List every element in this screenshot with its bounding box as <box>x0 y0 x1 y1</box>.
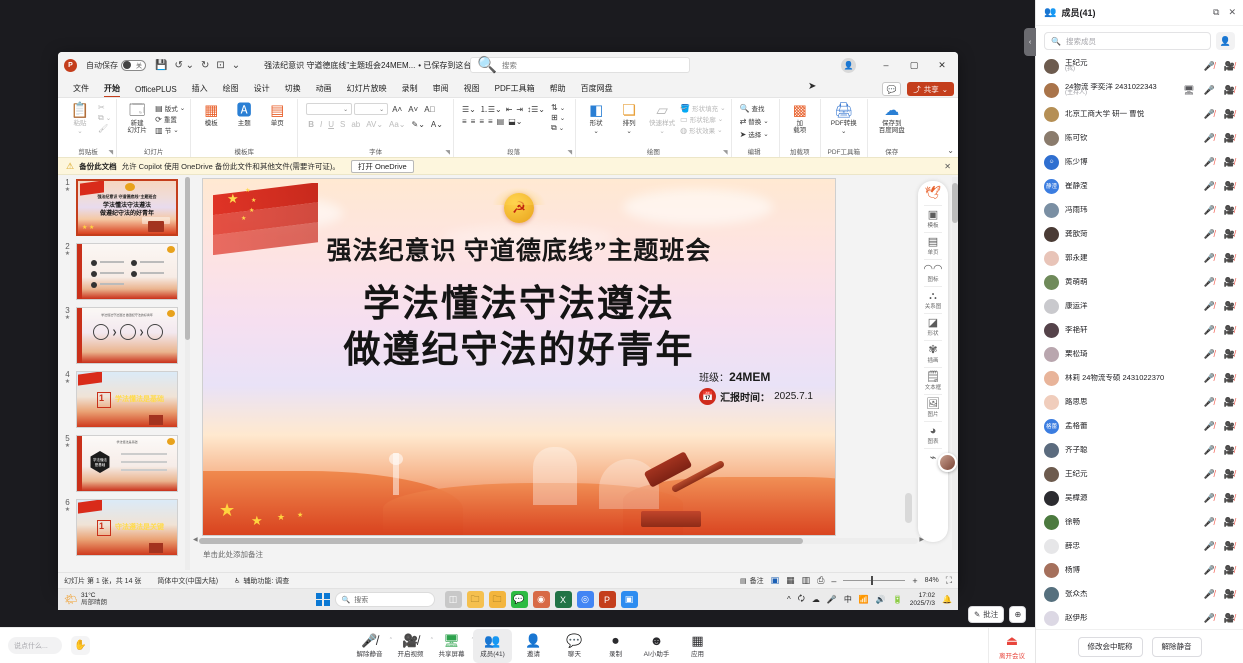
camera-off-icon[interactable]: 🎥̸ <box>1224 397 1235 408</box>
new-slide-button[interactable]: 🗔 新建 幻灯片 <box>122 101 152 135</box>
vertical-scrollbar[interactable] <box>952 177 958 550</box>
group-label-template-library: 模板库 <box>234 146 254 157</box>
ribbon: 📋 粘贴 ⌄ ✂ ⧉⌄ 🖌 剪贴板 ◥ 🗔 <box>58 97 958 157</box>
participant-name: 杨博 <box>1065 566 1080 575</box>
report-value: 2025.7.1 <box>774 391 813 402</box>
chevron-down-icon[interactable]: ⌄ <box>947 146 954 155</box>
pdf-convert-icon: 🖨 <box>834 103 853 119</box>
participant-row[interactable]: 陈可钦🎤̸🎥̸ <box>1036 126 1243 150</box>
shrink-font-icon[interactable]: A˅ <box>406 105 420 114</box>
current-slide[interactable]: ★ ★ ★ ★ ★ ☭ 强法纪意识 守道德底线”主题班会 学法懂法守法遵法 做遵… <box>203 179 835 535</box>
text-direction-button[interactable]: ⊞⌄ <box>551 113 565 122</box>
mic-muted-icon[interactable]: 🎤̸ <box>1204 229 1215 240</box>
participant-name: 崔静滢 <box>1065 182 1088 191</box>
members-button[interactable]: 👥 成员(41) <box>473 629 512 663</box>
mic-muted-icon[interactable]: 🎤̸ <box>1204 277 1215 288</box>
cut-button[interactable]: ✂ <box>98 103 111 112</box>
mic-muted-icon[interactable]: 🎤̸ <box>1204 253 1215 264</box>
person-add-icon: 👤 <box>525 634 541 647</box>
participant-row[interactable]: 康运洋🎤̸🎥̸ <box>1036 294 1243 318</box>
thumbnail-image[interactable]: 1 守法遵法是关键 <box>76 499 178 556</box>
thumbnail-scrollbar[interactable] <box>185 177 190 570</box>
open-onedrive-button[interactable]: 打开 OneDrive <box>351 160 414 173</box>
slide-thumbnail-5[interactable]: 5★ 学法懂法是基础 学法懂法是基础 <box>62 435 191 492</box>
camera-off-icon[interactable]: 🎥̸ <box>1224 277 1235 288</box>
columns-icon[interactable]: ▤ <box>497 117 505 126</box>
font-dialog-launcher[interactable]: ◥ <box>445 149 450 156</box>
zoom-slider[interactable] <box>843 580 905 581</box>
chevron-left-icon[interactable]: ‹ <box>1024 28 1036 56</box>
justify-icon[interactable]: ≡ <box>488 117 493 126</box>
tab-baidu-netdisk[interactable]: 百度网盘 <box>574 83 620 97</box>
participant-row[interactable]: 路思思🎤̸🎥̸ <box>1036 390 1243 414</box>
chevron-down-icon: ⌄ <box>720 104 725 112</box>
search-icon: 🔍 <box>342 596 351 604</box>
mic-muted-icon[interactable]: 🎤̸ <box>1204 493 1215 504</box>
camera-off-icon[interactable]: 🎥̸ <box>1224 469 1235 480</box>
camera-off-icon[interactable]: 🎥̸ <box>1224 589 1235 600</box>
mic-muted-icon[interactable]: 🎤̸ <box>1204 565 1215 576</box>
zoom-icon[interactable]: ⊕ <box>1009 606 1026 623</box>
reset-button[interactable]: ⟳重置 <box>155 114 185 124</box>
clear-format-icon[interactable]: A⃠ <box>422 105 437 114</box>
find-button[interactable]: 🔍查找 <box>740 103 769 113</box>
participant-row[interactable]: 薛忠🎤̸🎥̸ <box>1036 534 1243 558</box>
mic-muted-icon[interactable]: 🎤̸ <box>1204 205 1215 216</box>
camera-off-icon[interactable]: 🎥̸ <box>1224 493 1235 504</box>
tab-review[interactable]: 审阅 <box>426 83 456 97</box>
tab-pdf-toolbox[interactable]: PDF工具箱 <box>488 83 542 97</box>
camera-off-icon[interactable]: 🎥̸ <box>1224 85 1235 96</box>
tab-home[interactable]: 开始 <box>97 83 127 97</box>
participant-row[interactable]: 栗松琦🎤̸🎥̸ <box>1036 342 1243 366</box>
redo-icon[interactable]: ↻ <box>201 60 209 71</box>
tab-draw[interactable]: 绘图 <box>216 83 246 97</box>
increase-indent-icon[interactable]: ⇥ <box>516 105 523 114</box>
align-text-icon[interactable]: ⬓⌄ <box>508 117 522 126</box>
reading-view-icon[interactable]: ▥ <box>802 575 811 586</box>
share-button[interactable]: ⤴ 共享 ⌄ <box>907 82 954 96</box>
participant-row[interactable]: 张众杰🎤̸🎥̸ <box>1036 582 1243 606</box>
participant-status-icons: 🎤̸🎥̸ <box>1204 109 1235 120</box>
participant-row[interactable]: 王纪元(我)🎤̸🎥̸ <box>1036 54 1243 78</box>
grow-font-icon[interactable]: A˄ <box>390 105 404 114</box>
ribbon-group-slides: 🗔 新建 幻灯片 ▤版式⌄ ⟳重置 ▥节⌄ 幻灯片 <box>117 99 191 157</box>
zoom-level[interactable]: 84% <box>925 577 939 584</box>
taskbar-app-browser[interactable]: ◉ <box>533 591 550 608</box>
participant-row[interactable]: 冯雨玮🎤̸🎥̸ <box>1036 198 1243 222</box>
participant-row[interactable]: 齐子聪🎤̸🎥̸ <box>1036 438 1243 462</box>
sort-icon: ⇅ <box>551 103 558 112</box>
person-add-icon[interactable]: 👤 <box>1216 32 1235 50</box>
leave-meeting-button[interactable]: ⏏ 离开会议 <box>988 628 1035 663</box>
language-indicator[interactable]: 简体中文(中国大陆) <box>157 576 218 586</box>
close-button[interactable]: ✕ <box>928 52 956 78</box>
participant-row[interactable]: 王纪元🎤̸🎥̸ <box>1036 462 1243 486</box>
camera-off-icon[interactable]: 🎥̸ <box>1224 349 1235 360</box>
bold-icon[interactable]: B <box>306 120 316 129</box>
windows-logo[interactable] <box>316 593 330 607</box>
thumbnail-image[interactable]: 学法懂法守法遵法 做遵纪守法的好青年 ❯ ❯ <box>76 307 178 364</box>
taskbar-app-file-explorer[interactable]: 🗀 <box>467 591 484 608</box>
battery-icon[interactable]: 🔋 <box>893 595 903 604</box>
participant-row[interactable]: 徐畅🎤̸🎥̸ <box>1036 510 1243 534</box>
participant-row[interactable]: 北京工商大学 研一 曹悦🎤̸🎥̸ <box>1036 102 1243 126</box>
find-label: 查找 <box>752 103 765 113</box>
mic-muted-icon[interactable]: 🎤̸ <box>1204 325 1215 336</box>
zoom-in-button[interactable]: + <box>912 576 917 586</box>
share-screen-button[interactable]: 🖥 共享屏幕 ⌃ <box>432 629 471 663</box>
font-size-select[interactable]: ⌄ <box>354 103 388 115</box>
participant-status-icons: 🎤̸🎥̸ <box>1204 157 1235 168</box>
template-button[interactable]: ▦ 模板 <box>196 101 226 127</box>
invite-button[interactable]: 👤 邀请 <box>514 629 553 663</box>
highlight-icon[interactable]: ✎⌄ <box>410 120 427 129</box>
participants-list[interactable]: 王纪元(我)🎤̸🎥̸24物流 李奕洋 2431022343(主持人)🖥🎤🎥̸北京… <box>1036 54 1243 629</box>
meeting-toolbar: 说点什么... ✋ 🎤̸ 解除静音 ⌃ 🎥̸ 开启视频 ⌃ 🖥 共享屏幕 ⌃ 👥… <box>0 627 1035 663</box>
chevron-down-icon: ⌄ <box>560 104 565 112</box>
participant-row[interactable]: 杨博🎤̸🎥̸ <box>1036 558 1243 582</box>
thumbnail-image[interactable]: 学法懂法是基础 学法懂法是基础 <box>76 435 178 492</box>
tab-slideshow[interactable]: 幻灯片放映 <box>340 83 394 97</box>
italic-icon[interactable]: I <box>318 120 324 129</box>
mic-muted-icon[interactable]: 🎤̸ <box>1204 421 1215 432</box>
mic-muted-icon[interactable]: 🎤̸ <box>1204 613 1215 624</box>
replace-button[interactable]: ⇄替换⌄ <box>740 116 769 126</box>
scrollbar-thumb[interactable] <box>185 177 190 340</box>
shape-effects-button[interactable]: ◍形状效果⌄ <box>680 125 725 135</box>
close-icon[interactable]: ✕ <box>1228 7 1236 18</box>
mic-muted-icon[interactable]: 🎤̸ <box>1204 61 1215 72</box>
taskbar-apps: ◫ 🗀 🗀 💬 ◉ X ◎ P ▣ <box>445 591 638 608</box>
line-spacing-icon[interactable]: ↕☰⌄ <box>527 105 545 114</box>
rail-item-template[interactable]: ▣模板 <box>919 208 947 230</box>
unmute-all-button[interactable]: 解除静音 <box>1152 637 1202 657</box>
char-spacing-icon[interactable]: AV⌄ <box>364 120 385 129</box>
strikethrough-icon[interactable]: S <box>338 120 347 129</box>
taskbar-app-widgets[interactable]: ◫ <box>445 591 462 608</box>
chevron-up-icon[interactable]: ^ <box>787 595 791 604</box>
camera-off-icon[interactable]: 🎥̸ <box>1224 181 1235 192</box>
autosave-state: 关 <box>136 61 142 70</box>
shadow-icon[interactable]: ab <box>349 120 362 129</box>
copy-button[interactable]: ⧉⌄ <box>98 113 111 123</box>
participant-name: 徐畅 <box>1065 518 1080 527</box>
convert-smartart-button[interactable]: ⧉⌄ <box>551 123 565 133</box>
camera-off-icon[interactable]: 🎥̸ <box>1224 301 1235 312</box>
chevron-down-icon: ⌄ <box>626 128 631 135</box>
rail-item-icons[interactable]: ◠◠图标 <box>919 262 947 284</box>
camera-off-icon[interactable]: 🎥̸ <box>1224 109 1235 120</box>
save-to-baidu-button[interactable]: ☁ 保存到 百度网盘 <box>873 101 911 135</box>
slide-heading-2[interactable]: 做遵纪守法的好青年 <box>203 319 835 373</box>
shape-outline-button[interactable]: ▭形状轮廓⌄ <box>680 114 725 124</box>
mic-muted-icon[interactable]: 🎤̸ <box>1204 445 1215 456</box>
paragraph-dialog-launcher[interactable]: ◥ <box>568 149 573 156</box>
underline-icon[interactable]: U <box>326 120 336 129</box>
slide-sorter-icon[interactable]: ▦ <box>786 575 795 586</box>
notes-button[interactable]: ▤备注 <box>740 576 764 586</box>
addins-button[interactable]: ▩ 加 载项 <box>785 101 815 135</box>
participant-row[interactable]: 24物流 李奕洋 2431022343(主持人)🖥🎤🎥̸ <box>1036 78 1243 102</box>
camera-off-icon[interactable]: 🎥̸ <box>1224 229 1235 240</box>
participant-row[interactable]: 黄萌萌🎤̸🎥̸ <box>1036 270 1243 294</box>
thumbnail-image[interactable]: 强法纪意识 守道德底线”主题班会 学法懂法守法遵法 做遵纪守法的好青年 ★ ★ <box>76 179 178 236</box>
participant-row[interactable]: 静滢崔静滢🎤̸🎥̸ <box>1036 174 1243 198</box>
participant-row[interactable]: 郭永建🎤̸🎥̸ <box>1036 246 1243 270</box>
present-icon[interactable]: ⊡ <box>216 60 224 71</box>
zoom-out-button[interactable]: – <box>831 576 836 586</box>
camera-off-icon[interactable]: 🎥̸ <box>1224 517 1235 528</box>
share-icon: ⤴ <box>913 84 921 95</box>
tab-officeplus[interactable]: OfficePLUS <box>128 85 184 97</box>
thumbnail-image[interactable]: 1 学法懂法是基础 <box>76 371 178 428</box>
drawing-dialog-launcher[interactable]: ◥ <box>723 149 728 156</box>
shape-effects-label: 形状效果 <box>689 125 715 135</box>
mic-muted-icon[interactable]: 🎤̸ <box>1204 373 1215 384</box>
avatar <box>1044 443 1059 458</box>
baidu-cloud-icon: ☁ <box>884 103 899 119</box>
accessibility-status[interactable]: ♿ 辅助功能: 调查 <box>234 576 289 586</box>
apps-button[interactable]: ▦ 应用 <box>678 629 717 663</box>
mic-muted-icon[interactable]: 🎤̸ <box>1204 589 1215 600</box>
maximize-button[interactable]: ▢ <box>900 52 928 78</box>
calendar-icon: 📅 <box>699 388 716 405</box>
mic-muted-icon[interactable]: 🎤̸ <box>1204 133 1215 144</box>
camera-off-icon[interactable]: 🎥̸ <box>1224 541 1235 552</box>
taskbar-app-wechat[interactable]: 💬 <box>511 591 528 608</box>
tab-transitions[interactable]: 切换 <box>278 83 308 97</box>
notification-icon[interactable]: 🔔 <box>942 595 952 604</box>
slide-title[interactable]: 强法纪意识 守道德底线”主题班会 <box>203 231 835 267</box>
slide-thumbnail-panel[interactable]: 1★ 强法纪意识 守道德底线”主题班会 学法懂法守法遵法 做遵纪守法的好青年 ★… <box>58 175 191 572</box>
start-video-button[interactable]: 🎥̸ 开启视频 ⌃ <box>391 629 430 663</box>
sort-button[interactable]: ⇅⌄ <box>551 103 565 112</box>
slide-meta[interactable]: 班级：24MEM 📅 汇报时间： 2025.7.1 <box>699 369 813 405</box>
cloud-icon[interactable]: ☁ <box>812 595 820 604</box>
shape-fill-label: 形状填充 <box>692 103 718 113</box>
bullets-icon[interactable]: ☰⌄ <box>462 105 476 114</box>
close-icon[interactable]: ✕ <box>944 162 951 171</box>
document-name-area[interactable]: 强法纪意识 守道德底线”主题班会24MEM... • 已保存到这台电脑 ⌄ <box>264 60 497 71</box>
participant-row[interactable]: ☺陈少博🎤̸🎥̸ <box>1036 150 1243 174</box>
rename-button[interactable]: 修改会中昵称 <box>1078 637 1143 657</box>
wifi-icon[interactable]: 📶 <box>859 595 869 604</box>
participant-status-icons: 🎤̸🎥̸ <box>1204 205 1235 216</box>
self-video-avatar[interactable] <box>938 453 957 472</box>
mic-icon[interactable]: 🎤 <box>1204 85 1215 96</box>
camera-off-icon[interactable]: 🎥̸ <box>1224 373 1235 384</box>
officeplus-logo[interactable]: 🕊 <box>925 185 942 201</box>
participant-row[interactable]: 李艳轩🎤̸🎥̸ <box>1036 318 1243 342</box>
mic-muted-icon[interactable]: 🎤̸ <box>1204 157 1215 168</box>
font-name-select[interactable]: ⌄ <box>306 103 352 115</box>
rail-item-relationship-diagram[interactable]: ⛬关系图 <box>919 289 947 311</box>
quick-styles-button[interactable]: ▱ 快速样式 ⌄ <box>647 101 677 136</box>
tab-view[interactable]: 视图 <box>457 83 487 97</box>
mic-muted-icon[interactable]: 🎤̸ <box>1204 469 1215 480</box>
rail-item-illustration[interactable]: ✾插画 <box>919 343 947 365</box>
mic-muted-icon[interactable]: 🎤̸ <box>1204 397 1215 408</box>
scrollbar-thumb[interactable] <box>952 183 958 223</box>
participant-name: 栗松琦 <box>1065 350 1088 359</box>
scrollbar-thumb[interactable] <box>199 538 803 544</box>
participant-row[interactable]: 吴樟源🎤̸🎥̸ <box>1036 486 1243 510</box>
tab-design[interactable]: 设计 <box>247 83 277 97</box>
arrange-button[interactable]: ❏ 排列 ⌄ <box>614 101 644 136</box>
onedrive-icon[interactable]: 🗘 <box>798 593 805 607</box>
slide-editing-area: ★ ★ ★ ★ ★ ☭ 强法纪意识 守道德底线”主题班会 学法懂法守法遵法 做遵… <box>191 175 958 572</box>
system-tray: ^ 🗘 ☁ 🎤 中 📶 🔊 🔋 17:02 2025/7/3 🔔 <box>787 592 952 607</box>
align-center-icon[interactable]: ≡ <box>471 117 476 126</box>
more-icon[interactable]: ⌄ <box>232 60 240 71</box>
shapes-button[interactable]: ◧ 形状 ⌄ <box>581 101 611 136</box>
camera-off-icon[interactable]: 🎥̸ <box>1224 613 1235 624</box>
autosave-switch[interactable]: 关 <box>121 60 146 71</box>
tab-file[interactable]: 文件 <box>66 83 96 97</box>
autosave-knob <box>123 61 131 69</box>
mic-icon[interactable]: 🎤 <box>827 595 837 604</box>
taskbar-app-tencent-meeting[interactable]: ▣ <box>621 591 638 608</box>
layout-button[interactable]: ▤版式⌄ <box>155 103 185 113</box>
numbering-icon[interactable]: ⒈☰⌄ <box>480 104 502 115</box>
search-input[interactable]: 🔍 搜索 <box>470 57 690 73</box>
weather-widget[interactable]: 🌤 31°C 局部晴朗 <box>64 593 107 607</box>
participant-row[interactable]: 赵伊彤🎤̸🎥̸ <box>1036 606 1243 629</box>
save-icon[interactable]: 💾 <box>155 60 167 71</box>
ime-icon[interactable]: 中 <box>844 594 852 605</box>
mic-muted-icon[interactable]: 🎤̸ <box>1204 517 1215 528</box>
taskbar-app-powerpoint[interactable]: P <box>599 591 616 608</box>
pdf-convert-button[interactable]: 🖨 PDF转换 ⌄ <box>826 101 862 136</box>
chat-button[interactable]: 💬 聊天 <box>555 629 594 663</box>
comment-icon[interactable]: 💬 <box>882 82 901 96</box>
slide-thumbnail-6[interactable]: 6★ 1 守法遵法是关键 <box>62 499 191 556</box>
normal-view-icon[interactable]: ▣ <box>771 575 780 586</box>
participant-row[interactable]: 格蕾孟格蕾🎤̸🎥̸ <box>1036 414 1243 438</box>
paste-button[interactable]: 📋 粘贴 ⌄ <box>65 101 95 136</box>
slide-thumbnail-1[interactable]: 1★ 强法纪意识 守道德底线”主题班会 学法懂法守法遵法 做遵纪守法的好青年 ★… <box>62 179 191 236</box>
mic-muted-icon[interactable]: 🎤̸ <box>1204 541 1215 552</box>
rail-item-single-page[interactable]: ▤单页 <box>919 235 947 257</box>
participant-name: 康运洋 <box>1065 302 1088 311</box>
single-page-button[interactable]: ▤ 单页 <box>262 101 292 127</box>
search-placeholder: 搜索 <box>502 60 517 71</box>
annotate-button[interactable]: ✎ 批注 <box>968 606 1004 623</box>
mic-muted-icon[interactable]: 🎤̸ <box>1204 349 1215 360</box>
font-color-icon[interactable]: A⌄ <box>429 120 445 129</box>
search-member-input[interactable]: 🔍 搜索成员 <box>1044 32 1211 50</box>
participant-name: 孟格蕾 <box>1065 422 1088 431</box>
participant-row[interactable]: 林莉 24物流专硕 2431022370🎤̸🎥̸ <box>1036 366 1243 390</box>
camera-off-icon[interactable]: 🎥̸ <box>1224 253 1235 264</box>
minimize-button[interactable]: – <box>872 52 900 78</box>
horizontal-scrollbar[interactable] <box>199 538 918 544</box>
participant-status-icons: 🎤̸🎥̸ <box>1204 613 1235 624</box>
slide-thumbnail-2[interactable]: 2★ <box>62 243 191 300</box>
autosave-toggle[interactable]: 自动保存 关 <box>86 60 146 71</box>
mic-muted-icon[interactable]: 🎤̸ <box>1204 181 1215 192</box>
record-button[interactable]: ⏺ 录制 <box>596 629 635 663</box>
tab-animations[interactable]: 动画 <box>309 83 339 97</box>
relationship-diagram-icon: ⛬ <box>929 290 937 302</box>
raise-hand-icon[interactable]: ✋ <box>71 636 90 655</box>
unmute-button[interactable]: 🎤̸ 解除静音 ⌃ <box>350 629 389 663</box>
taskbar-app-folder[interactable]: 🗀 <box>489 591 506 608</box>
undo-icon[interactable]: ↺ ⌄ <box>174 60 194 71</box>
rail-item-shape[interactable]: ◪形状 <box>919 316 947 338</box>
section-button[interactable]: ▥节⌄ <box>155 125 185 135</box>
avatar <box>1044 539 1059 554</box>
clipboard-dialog-launcher[interactable]: ◥ <box>109 149 114 156</box>
tab-help[interactable]: 帮助 <box>543 83 573 97</box>
fit-to-window-icon[interactable]: ⛶ <box>946 575 952 586</box>
rail-item-picture[interactable]: 🖼图片 <box>919 397 947 419</box>
slideshow-icon[interactable]: ⎙ <box>817 575 824 586</box>
camera-off-icon[interactable]: 🎥̸ <box>1224 205 1235 216</box>
camera-off-icon[interactable]: 🎥̸ <box>1224 325 1235 336</box>
select-button[interactable]: ➤选择⌄ <box>740 129 769 139</box>
align-right-icon[interactable]: ≡ <box>479 117 484 126</box>
change-case-icon[interactable]: Aa⌄ <box>387 120 408 129</box>
participant-status-icons: 🎤̸🎥̸ <box>1204 181 1235 192</box>
taskbar-clock[interactable]: 17:02 2025/7/3 <box>910 592 935 607</box>
zoom-slider-thumb[interactable] <box>871 576 873 585</box>
avatar <box>1044 611 1059 626</box>
shape-fill-button[interactable]: 🪣形状填充⌄ <box>680 103 725 113</box>
notes-placeholder[interactable]: 单击此处添加备注 <box>203 549 263 560</box>
theme-button[interactable]: 🅰 主题 <box>229 101 259 127</box>
camera-off-icon[interactable]: 🎥̸ <box>1224 61 1235 72</box>
participants-title: 成员(41) <box>1061 6 1095 19</box>
thumbnail-star: ★ <box>62 507 73 513</box>
slide-thumbnail-3[interactable]: 3★ 学法懂法守法遵法 做遵纪守法的好青年 ❯ ❯ <box>62 307 191 364</box>
participant-name: 北京工商大学 研一 曹悦 <box>1065 110 1144 119</box>
tab-insert[interactable]: 插入 <box>185 83 215 97</box>
tab-record[interactable]: 录制 <box>395 83 425 97</box>
ribbon-group-addins: ▩ 加 载项 加载项 <box>780 99 821 157</box>
onedrive-backup-notice: ⚠ 备份此文档 允许 Copilot 使用 OneDrive 备份此文件和其他文… <box>58 157 958 175</box>
decrease-indent-icon[interactable]: ⇤ <box>506 105 513 114</box>
ribbon-group-save: ☁ 保存到 百度网盘 保存 <box>868 99 916 157</box>
rail-item-textbox[interactable]: 🗒文本框 <box>919 370 947 392</box>
camera-off-icon[interactable]: 🎥̸ <box>1224 421 1235 432</box>
camera-off-icon[interactable]: 🎥̸ <box>1224 133 1235 144</box>
ai-assistant-button[interactable]: ☻ AI小助手 <box>637 629 676 663</box>
panel-collapse-handle[interactable] <box>905 493 912 523</box>
align-left-icon[interactable]: ≡ <box>462 117 467 126</box>
shapes-icon: ◧ <box>589 103 603 119</box>
popout-icon[interactable]: ⧉ <box>1213 7 1219 18</box>
mic-muted-icon[interactable]: 🎤̸ <box>1204 301 1215 312</box>
taskbar-app-excel[interactable]: X <box>555 591 572 608</box>
taskbar-search[interactable]: 🔍 搜索 <box>335 592 435 607</box>
say-something-input[interactable]: 说点什么... <box>8 637 62 654</box>
thumbnail-image[interactable] <box>76 243 178 300</box>
camera-off-icon[interactable]: 🎥̸ <box>1224 565 1235 576</box>
camera-off-icon[interactable]: 🎥̸ <box>1224 157 1235 168</box>
mic-muted-icon[interactable]: 🎤̸ <box>1204 109 1215 120</box>
format-painter-button[interactable]: 🖌 <box>98 124 111 133</box>
camera-off-icon[interactable]: 🎥̸ <box>1224 445 1235 456</box>
participant-row[interactable]: 龚歆菏🎤̸🎥̸ <box>1036 222 1243 246</box>
volume-icon[interactable]: 🔊 <box>876 595 886 604</box>
slide-thumbnail-4[interactable]: 4★ 1 学法懂法是基础 <box>62 371 191 428</box>
scroll-left-icon[interactable]: ◀ <box>193 536 198 543</box>
taskbar-app-chrome[interactable]: ◎ <box>577 591 594 608</box>
rail-item-chart[interactable]: ◕图表 <box>919 424 947 446</box>
account-icon[interactable]: 👤 <box>841 58 856 73</box>
